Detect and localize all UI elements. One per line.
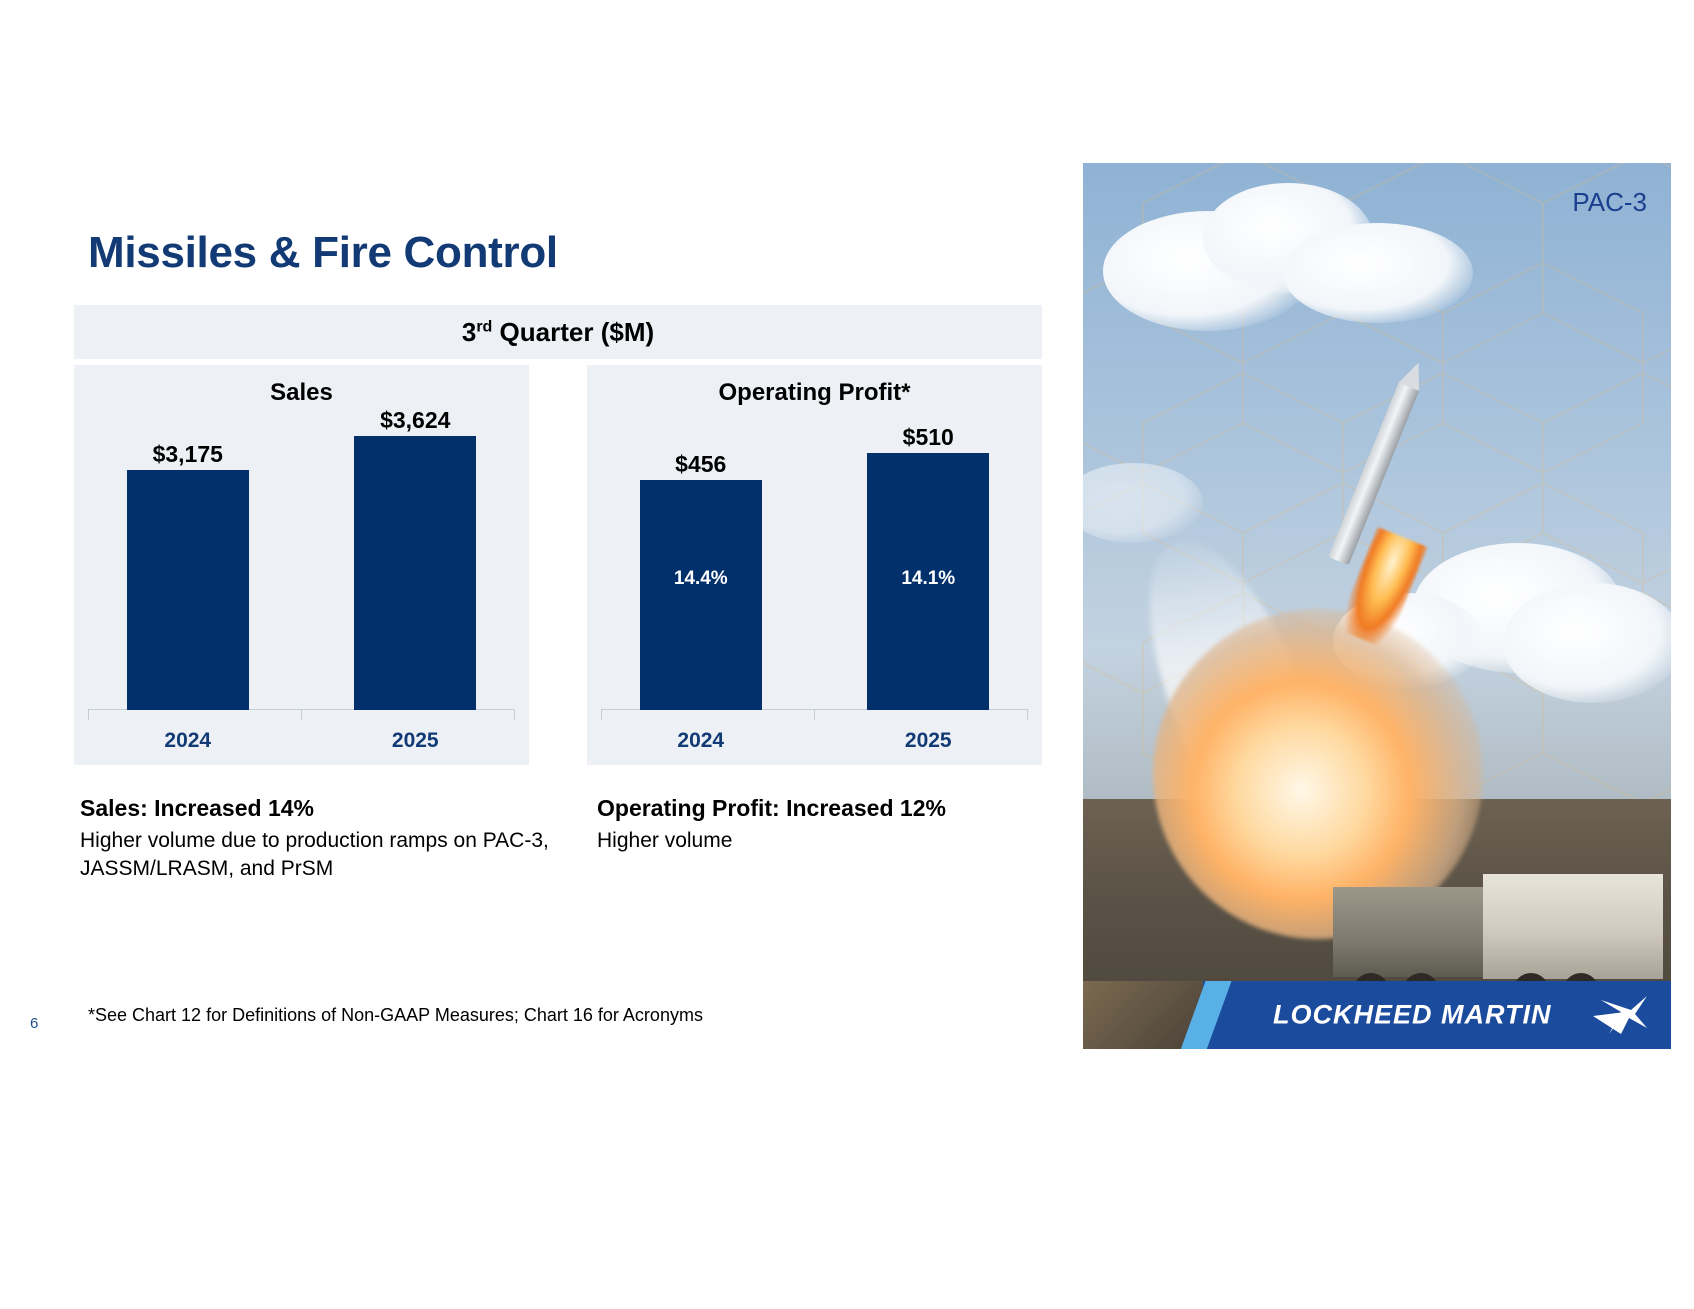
sales-axis-tick-mid (301, 709, 302, 720)
launcher-equipment-shelter (1483, 874, 1663, 979)
operating-profit-axis-tick-start (601, 709, 602, 720)
sales-category-label-2025: 2025 (302, 729, 530, 753)
quarter-ordinal-suffix: rd (476, 318, 492, 335)
pac3-launch-photo: PAC-3 LOCKHEED MARTIN (1083, 163, 1671, 1049)
sales-commentary-heading: Sales: Increased 14% (80, 795, 580, 822)
quarter-header-text: 3rd Quarter ($M) (462, 317, 654, 348)
page-title: Missiles & Fire Control (88, 228, 558, 278)
quarter-ordinal-number: 3 (462, 317, 476, 347)
sales-axis-tick-start (88, 709, 89, 720)
operating-profit-category-label-2025: 2025 (815, 729, 1043, 753)
lockheed-star-icon (1591, 994, 1649, 1036)
operating-profit-commentary-body: Higher volume (597, 827, 1097, 855)
sales-chart-panel: Sales $3,175 $3,624 2024 2025 (74, 365, 529, 765)
operating-profit-axis-tick-mid (814, 709, 815, 720)
operating-profit-chart-title: Operating Profit* (587, 379, 1042, 407)
operating-profit-axis-tick-end (1027, 709, 1028, 720)
operating-profit-margin-2024: 14.4% (674, 568, 728, 590)
launcher-truck-body (1333, 887, 1503, 977)
operating-profit-category-label-2024: 2024 (587, 729, 815, 753)
sales-commentary-body: Higher volume due to production ramps on… (80, 827, 580, 882)
sales-bar-2024 (127, 470, 249, 710)
page-number: 6 (30, 1015, 38, 1032)
sales-commentary: Sales: Increased 14% Higher volume due t… (80, 795, 580, 882)
sales-category-label-2024: 2024 (74, 729, 302, 753)
operating-profit-bar-value-2024: $456 (675, 451, 726, 478)
footnote: *See Chart 12 for Definitions of Non-GAA… (88, 1005, 703, 1026)
operating-profit-bar-2024 (640, 480, 762, 710)
sales-axis-tick-end (514, 709, 515, 720)
operating-profit-bar-value-2025: $510 (903, 424, 954, 451)
sales-bar-value-2025: $3,624 (380, 407, 450, 434)
operating-profit-chart-panel: Operating Profit* $456 14.4% $510 14.1% … (587, 365, 1042, 765)
sales-bar-value-2024: $3,175 (153, 441, 223, 468)
slide: Missiles & Fire Control 3rd Quarter ($M)… (0, 0, 1694, 1309)
operating-profit-commentary: Operating Profit: Increased 12% Higher v… (597, 795, 1097, 855)
quarter-header-rest: Quarter ($M) (492, 317, 654, 347)
operating-profit-commentary-heading: Operating Profit: Increased 12% (597, 795, 1097, 822)
sales-chart-title: Sales (74, 379, 529, 407)
operating-profit-margin-2025: 14.1% (901, 568, 955, 590)
chart-panels: Sales $3,175 $3,624 2024 2025 Operating … (74, 365, 1042, 765)
quarter-header-bar: 3rd Quarter ($M) (74, 305, 1042, 359)
lockheed-martin-logo-band: LOCKHEED MARTIN (1083, 981, 1671, 1049)
lockheed-martin-wordmark: LOCKHEED MARTIN (1273, 1000, 1552, 1031)
photo-caption-pac3: PAC-3 (1572, 187, 1647, 218)
sales-bar-2025 (354, 436, 476, 710)
